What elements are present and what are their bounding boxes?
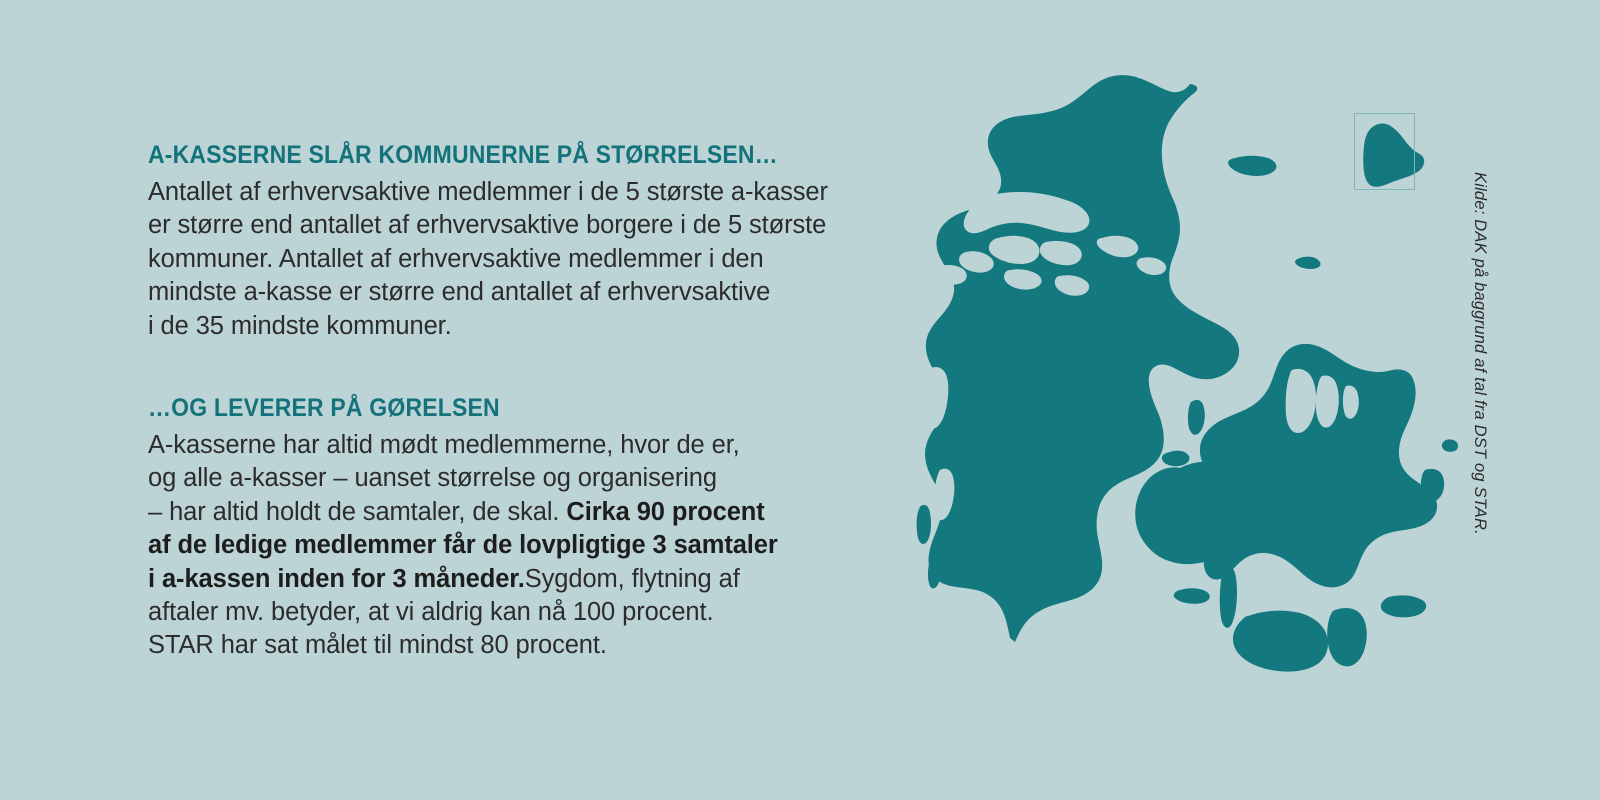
paragraph-2-line-3-text: – har altid holdt de samtaler, de skal.: [148, 498, 566, 526]
infographic-canvas: A-KASSERNE SLÅR KOMMUNERNE PÅ STØRRELSEN…: [0, 0, 1600, 800]
lolland-island: [1233, 611, 1328, 672]
text-block-1: A-KASSERNE SLÅR KOMMUNERNE PÅ STØRRELSEN…: [148, 140, 908, 343]
paragraph-2: A-kasserne har altid mødt medlemmerne, h…: [148, 429, 908, 663]
paragraph-1-line-3: kommuner. Antallet af erhvervsaktive med…: [148, 243, 908, 276]
moen-island: [1381, 595, 1426, 617]
bold-run-2: af de ledige medlemmer får de lovpligtig…: [148, 531, 778, 559]
falster-island: [1327, 608, 1367, 666]
denmark-map: [880, 70, 1460, 720]
bold-run-3: i a-kassen inden for 3 måneder.: [148, 565, 525, 593]
paragraph-2-line-3: – har altid holdt de samtaler, de skal. …: [148, 496, 908, 529]
paragraph-1-line-1: Antallet af erhvervsaktive medlemmer i d…: [148, 176, 908, 209]
paragraph-2-line-5: i a-kassen inden for 3 måneder.Sygdom, f…: [148, 563, 908, 596]
source-credit: Kilde: DAK på baggrund af tal fra DST og…: [1470, 172, 1489, 612]
paragraph-2-line-6: aftaler mv. betyder, at vi aldrig kan nå…: [148, 596, 908, 629]
paragraph-2-line-2: og alle a-kasser – uanset størrelse og o…: [148, 462, 908, 495]
text-column: A-KASSERNE SLÅR KOMMUNERNE PÅ STØRRELSEN…: [148, 140, 908, 663]
text-block-2: …OG LEVERER PÅ GØRELSEN A-kasserne har a…: [148, 393, 908, 663]
paragraph-2-line-4: af de ledige medlemmer får de lovpligtig…: [148, 529, 908, 562]
samsoe-island: [1188, 400, 1205, 435]
heading-1: A-KASSERNE SLÅR KOMMUNERNE PÅ STØRRELSEN…: [148, 140, 847, 170]
bold-run-1: Cirka 90 procent: [566, 498, 764, 526]
paragraph-1-line-2: er større end antallet af erhvervsaktive…: [148, 209, 908, 242]
paragraph-2-line-5-text: Sygdom, flytning af: [525, 565, 740, 593]
paragraph-2-line-7: STAR har sat målet til mindst 80 procent…: [148, 629, 908, 662]
fanoe-island: [917, 505, 931, 544]
paragraph-2-line-1: A-kasserne har altid mødt medlemmerne, h…: [148, 429, 908, 462]
roemoe-island: [928, 558, 940, 588]
amager-island: [1421, 469, 1444, 502]
aeroe-island: [1174, 588, 1210, 604]
anholt-island: [1295, 257, 1321, 269]
hesseloe-island: [1442, 439, 1458, 451]
paragraph-1: Antallet af erhvervsaktive medlemmer i d…: [148, 176, 908, 343]
bornholm-inset-box: [1354, 113, 1415, 190]
fyn-north-tip: [1162, 451, 1190, 467]
paragraph-1-line-4: mindste a-kasse er større end antallet a…: [148, 276, 908, 309]
paragraph-1-line-5: i de 35 mindste kommuner.: [148, 310, 908, 343]
zealand-island: [1200, 344, 1437, 587]
heading-2: …OG LEVERER PÅ GØRELSEN: [148, 393, 847, 423]
laesoe-island: [1228, 156, 1276, 176]
